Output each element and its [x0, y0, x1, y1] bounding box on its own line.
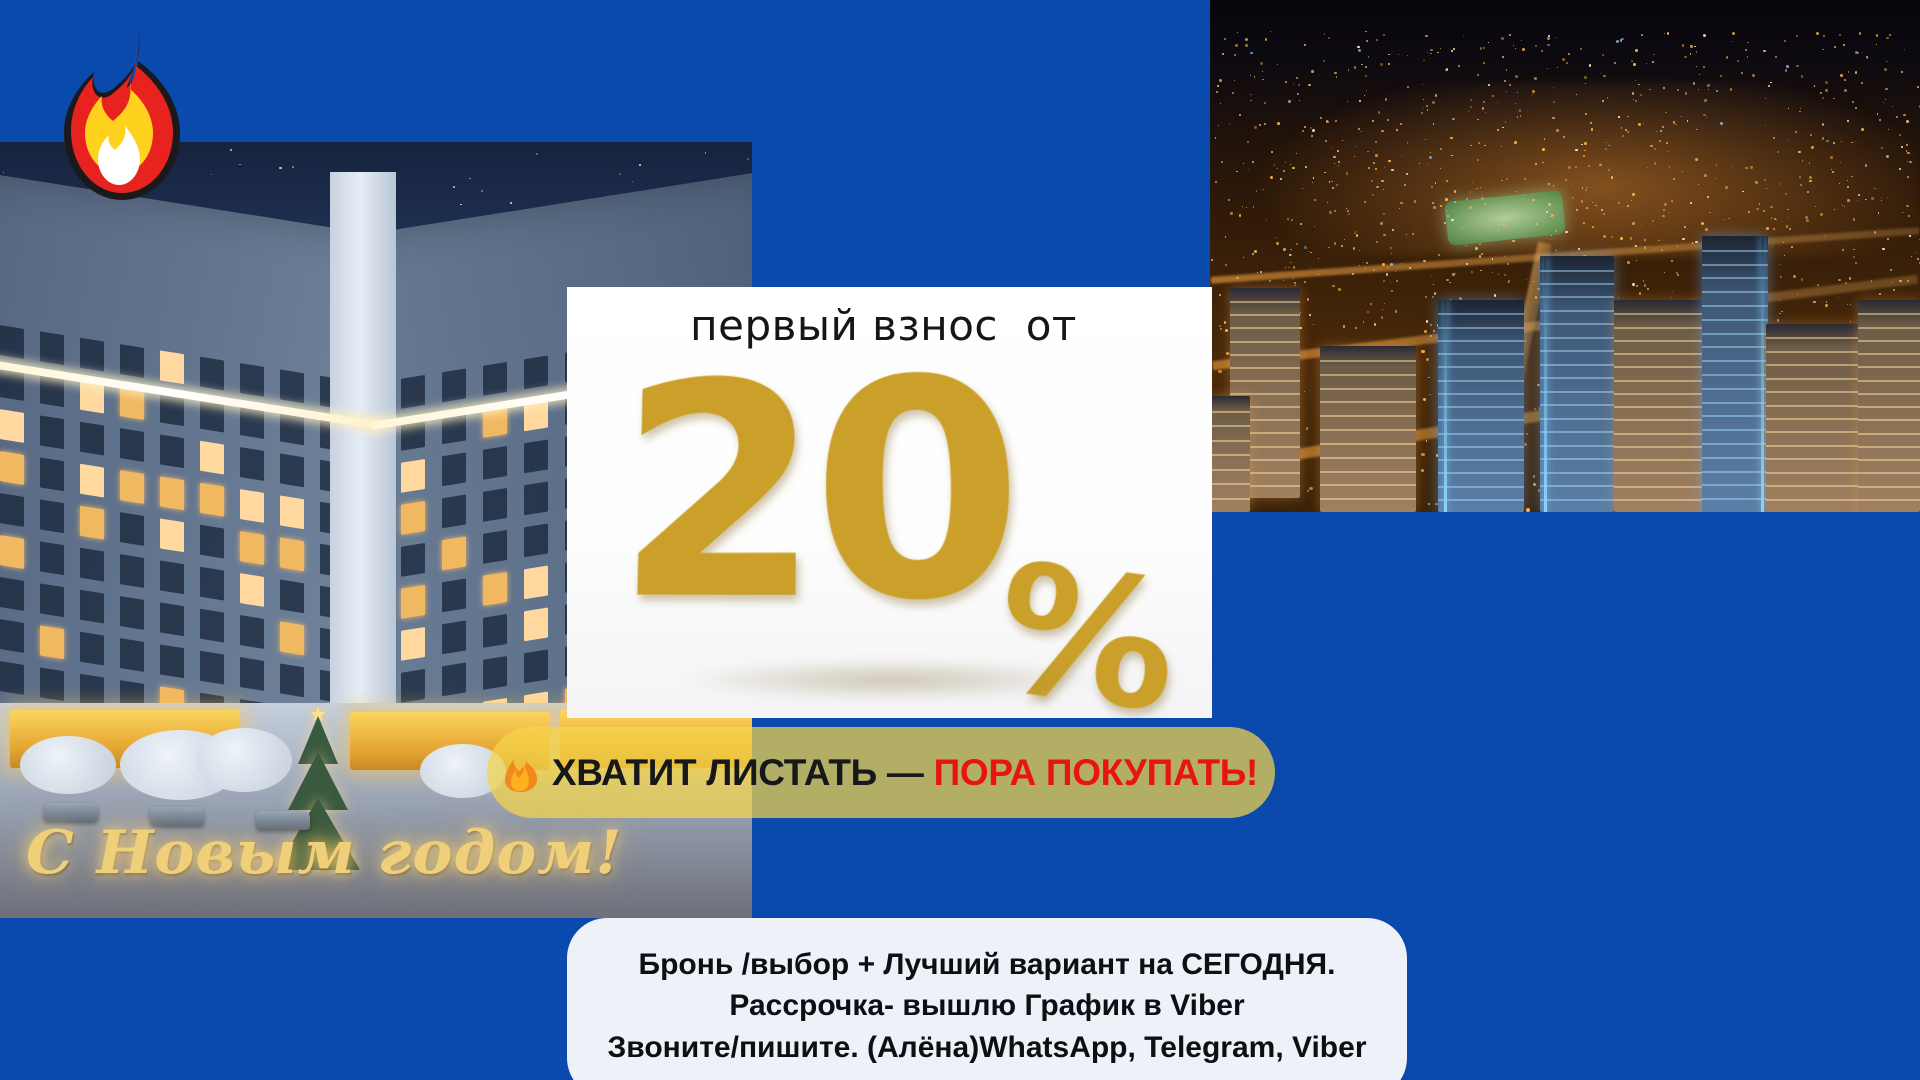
cta-text-red: ПОРА ПОКУПАТЬ!	[934, 752, 1258, 793]
promo-poster: ★ С Новым годом!	[0, 0, 1920, 1080]
cta-text-black: ХВАТИТ ЛИСТАТЬ —	[552, 752, 934, 793]
cta-text: ХВАТИТ ЛИСТАТЬ — ПОРА ПОКУПАТЬ!	[552, 752, 1258, 794]
contact-line-3: Звоните/пишите. (Алёна)WhatsApp, Telegra…	[597, 1027, 1377, 1068]
down-payment-card: первый взнос от 20 %	[567, 287, 1212, 718]
tower-g	[1766, 324, 1866, 512]
contact-line-1: Бронь /выбор + Лучший вариант на СЕГОДНЯ…	[597, 944, 1377, 985]
snow-bush-c	[20, 736, 116, 794]
contact-info-card: Бронь /выбор + Лучший вариант на СЕГОДНЯ…	[567, 918, 1407, 1080]
tower-c	[1320, 346, 1416, 512]
cta-banner[interactable]: ХВАТИТ ЛИСТАТЬ — ПОРА ПОКУПАТЬ!	[487, 727, 1275, 818]
tower-b	[1438, 300, 1524, 512]
fire-icon	[504, 753, 538, 793]
tower-e	[1614, 300, 1704, 512]
fire-emoji	[42, 22, 192, 207]
number-shadow	[677, 660, 1107, 700]
down-payment-value: 20	[613, 341, 1018, 645]
tower-h	[1858, 300, 1920, 512]
tower-d	[1540, 256, 1614, 512]
night-city-aerial-photo	[1210, 0, 1920, 512]
city-light-haze	[1210, 82, 1920, 256]
new-year-greeting-text: С Новым годом!	[26, 818, 686, 888]
snow-bush-b	[196, 728, 292, 792]
contact-line-2: Рассрочка- вышлю График в Viber	[597, 985, 1377, 1026]
tower-i	[1210, 396, 1250, 512]
tower-f	[1702, 236, 1768, 512]
